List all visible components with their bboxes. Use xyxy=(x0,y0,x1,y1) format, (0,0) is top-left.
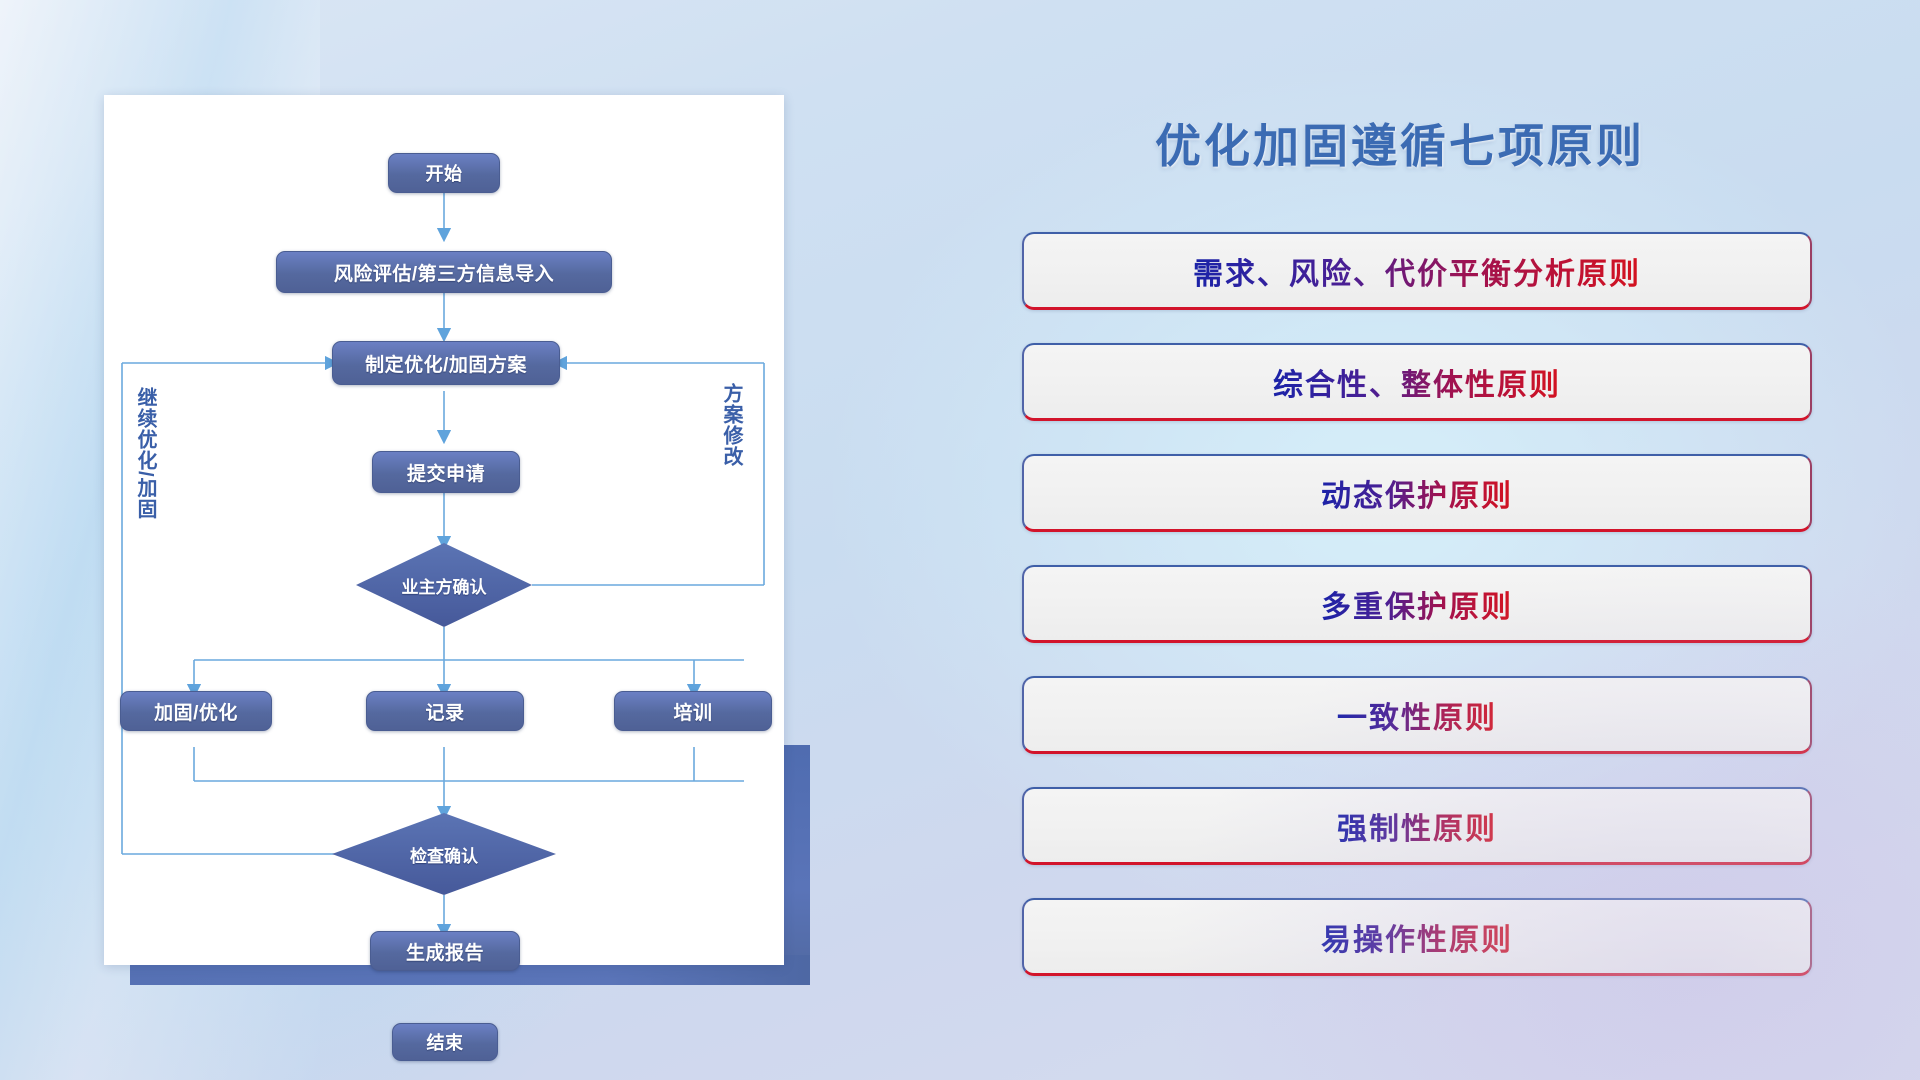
node-reinforce-optimize[interactable]: 加固/优化 xyxy=(120,691,272,731)
principle-item-5[interactable]: 一致性原则 xyxy=(1022,676,1812,754)
node-start[interactable]: 开始 xyxy=(388,153,500,193)
node-risk-assessment[interactable]: 风险评估/第三方信息导入 xyxy=(276,251,612,293)
right-panel-title: 优化加固遵循七项原则 xyxy=(1010,110,1790,176)
node-generate-report[interactable]: 生成报告 xyxy=(370,931,520,971)
principle-item-1-label: 需求、风险、代价平衡分析原则 xyxy=(1193,249,1641,293)
principle-item-3[interactable]: 动态保护原则 xyxy=(1022,454,1812,532)
node-training[interactable]: 培训 xyxy=(614,691,772,731)
principle-item-7[interactable]: 易操作性原则 xyxy=(1022,898,1812,976)
node-owner-confirm-label: 业主方确认 xyxy=(356,543,532,627)
principle-item-6[interactable]: 强制性原则 xyxy=(1022,787,1812,865)
node-end[interactable]: 结束 xyxy=(392,1023,498,1061)
edge-label-continue-optimize: 继续优化/加固 xyxy=(134,387,155,520)
node-check-confirm-label: 检查确认 xyxy=(332,813,556,895)
principle-item-7-label: 易操作性原则 xyxy=(1321,915,1513,959)
principle-item-4-label: 多重保护原则 xyxy=(1321,582,1513,626)
principle-item-1[interactable]: 需求、风险、代价平衡分析原则 xyxy=(1022,232,1812,310)
node-make-plan[interactable]: 制定优化/加固方案 xyxy=(332,341,560,385)
principle-item-6-label: 强制性原则 xyxy=(1337,804,1497,848)
principle-item-3-label: 动态保护原则 xyxy=(1321,471,1513,515)
flowchart-card: 业主方确认 检查确认 开始 风险评估/第三方信息导入 制定优化/加固方案 提交申… xyxy=(104,95,784,965)
node-owner-confirm[interactable]: 业主方确认 xyxy=(356,543,532,627)
principle-item-2[interactable]: 综合性、整体性原则 xyxy=(1022,343,1812,421)
edge-label-plan-revision: 方案修改 xyxy=(720,383,741,467)
node-submit-application[interactable]: 提交申请 xyxy=(372,451,520,493)
principle-item-2-label: 综合性、整体性原则 xyxy=(1273,360,1561,404)
node-check-confirm[interactable]: 检查确认 xyxy=(332,813,556,895)
principle-item-5-label: 一致性原则 xyxy=(1337,693,1497,737)
node-record[interactable]: 记录 xyxy=(366,691,524,731)
principles-list: 需求、风险、代价平衡分析原则 综合性、整体性原则 动态保护原则 多重保护原则 一… xyxy=(1022,232,1812,1009)
principle-item-4[interactable]: 多重保护原则 xyxy=(1022,565,1812,643)
slide-canvas: 业主方确认 检查确认 开始 风险评估/第三方信息导入 制定优化/加固方案 提交申… xyxy=(0,0,1920,1080)
